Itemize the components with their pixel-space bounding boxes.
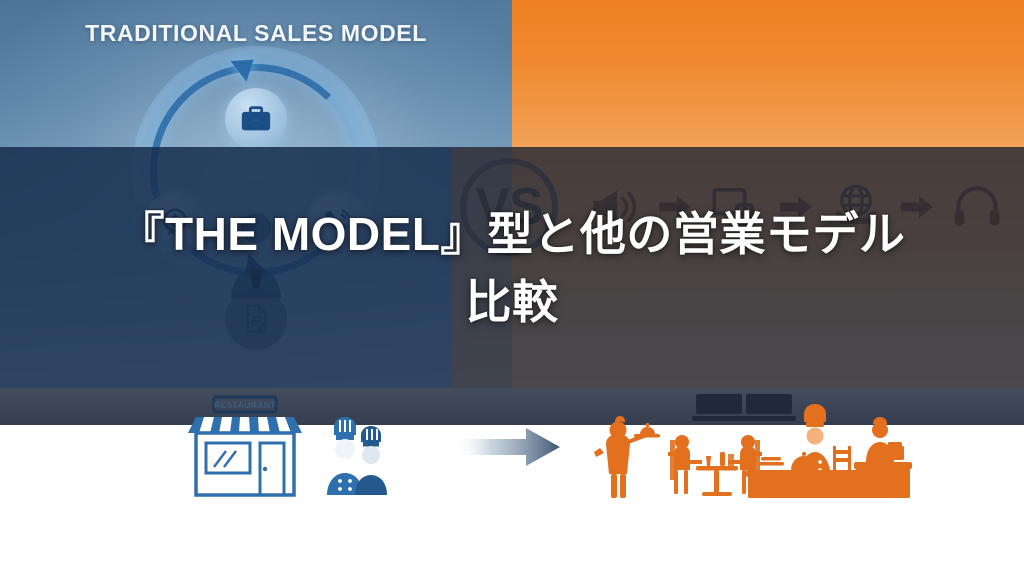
wall-shelf-icon — [692, 394, 796, 421]
restaurant-storefront-icon: RESTAURANT — [188, 397, 302, 495]
briefcase-icon — [225, 88, 287, 150]
waitress-with-tray-icon — [594, 416, 660, 498]
arrow-right-gradient-icon — [452, 424, 562, 470]
the-model-restaurant-scene — [588, 392, 910, 500]
cashier-at-register-icon — [854, 417, 912, 498]
headline-line-2: 比較 — [466, 269, 559, 335]
svg-text:RESTAURANT: RESTAURANT — [214, 400, 276, 410]
traditional-restaurant-scene: RESTAURANT — [186, 395, 376, 500]
two-chefs-icon — [327, 417, 387, 495]
headline-block: 『THE MODEL』型と他の営業モデル 比較 — [0, 147, 1024, 388]
diners-at-table-icon — [668, 435, 762, 496]
traditional-model-title: TRADITIONAL SALES MODEL — [0, 18, 512, 48]
bottom-scene-band: RESTAURANT — [0, 425, 1024, 576]
headline-line-1: 『THE MODEL』型と他の営業モデル — [119, 201, 906, 267]
slide-canvas: TRADITIONAL SALES MODEL THE MODEL METHOD… — [0, 0, 1024, 576]
